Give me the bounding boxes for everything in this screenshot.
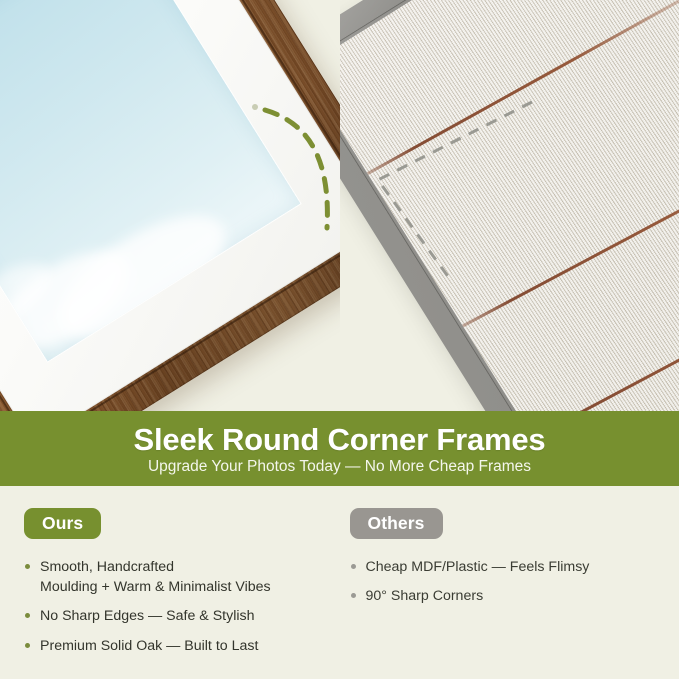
banner-subtitle: Upgrade Your Photos Today — No More Chea… [148,459,531,475]
comparison-section: Ours Smooth, HandcraftedMoulding + Warm … [0,486,679,679]
headline-banner: Sleek Round Corner Frames Upgrade Your P… [0,411,679,486]
arc-end-dot-icon [252,104,258,110]
fabric-accent-line [429,129,679,345]
list-item: No Sharp Edges — Safe & Stylish [24,606,340,626]
fabric-accent-line [340,0,679,193]
frame-fabric-insert [340,0,679,411]
fabric-accent-line [499,241,679,411]
grey-sharp-corner-frame [340,0,679,411]
hero-right-panel [340,0,679,411]
list-item-label: No Sharp Edges — Safe & Stylish [40,608,255,624]
frame-mat-board [0,0,340,411]
list-item: Premium Solid Oak — Built to Last [24,636,340,656]
list-item-label: Premium Solid Oak — Built to Last [40,638,258,654]
badge-ours: Ours [24,508,101,539]
comparison-column-others: Others Cheap MDF/Plastic — Feels Flimsy … [340,508,656,679]
banner-title: Sleek Round Corner Frames [134,424,546,456]
list-item-label: 90° Sharp Corners [366,588,484,604]
list-item: Smooth, HandcraftedMoulding + Warm & Min… [24,557,340,597]
list-item-label: Cheap MDF/Plastic — Feels Flimsy [366,559,590,575]
hero-product-images [0,0,679,411]
list-item-label: Smooth, HandcraftedMoulding + Warm & Min… [40,559,271,595]
others-drawback-list: Cheap MDF/Plastic — Feels Flimsy 90° Sha… [350,557,656,606]
wooden-round-corner-frame [0,0,340,411]
hero-left-panel [0,0,340,411]
badge-others: Others [350,508,443,539]
ours-benefit-list: Smooth, HandcraftedMoulding + Warm & Min… [24,557,340,656]
comparison-column-ours: Ours Smooth, HandcraftedMoulding + Warm … [24,508,340,679]
list-item: 90° Sharp Corners [350,586,656,606]
list-item: Cheap MDF/Plastic — Feels Flimsy [350,557,656,577]
